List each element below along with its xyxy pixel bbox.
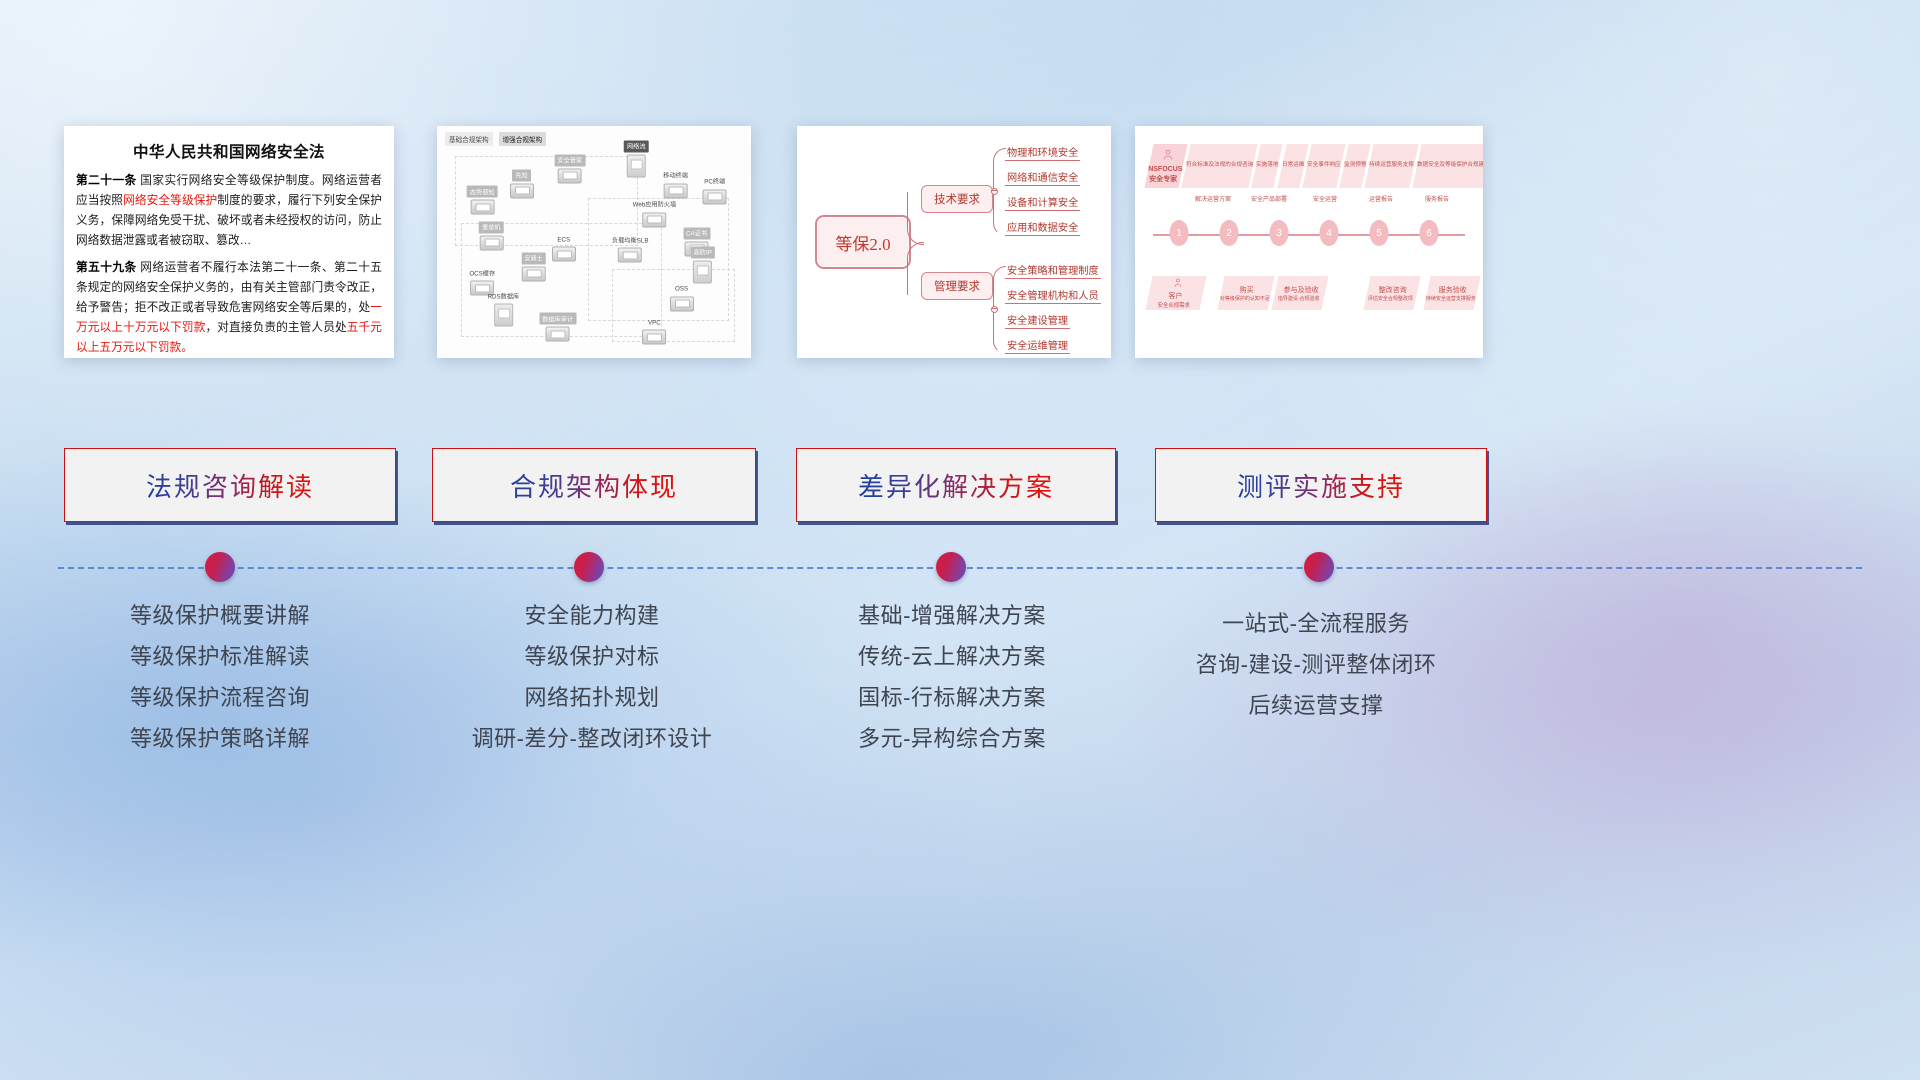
mind-map-leaf: 安全管理机构和人员 bbox=[1005, 287, 1101, 304]
architecture-node: ECS bbox=[552, 235, 576, 262]
architecture-node: 负载均衡SLB bbox=[609, 234, 651, 263]
list-item: 传统-云上解决方案 bbox=[858, 646, 1046, 668]
architecture-canvas: 基础合规架构 增强合规架构 态势感知先知安全管家网络流堡垒机ECS安骑士OCS缓… bbox=[437, 126, 751, 358]
mind-map-branch-link bbox=[991, 308, 997, 309]
stage-marker-dot-4 bbox=[1304, 552, 1334, 582]
stage-title-box-3[interactable]: 差异化解决方案 bbox=[796, 448, 1116, 522]
timeline-step-number: 5 bbox=[1370, 220, 1389, 246]
timeline-customer-block: 客户安全合规需求 bbox=[1145, 276, 1206, 310]
architecture-node-icon bbox=[552, 247, 576, 262]
timeline-footer-item-title: 购买 bbox=[1240, 285, 1254, 295]
timeline-footer-item: 参与及验收指导建设-合规验收 bbox=[1271, 276, 1328, 310]
timeline-banner-chip: 符合标准及法规的合规咨询 bbox=[1182, 144, 1258, 188]
stage-title-label-4: 测评实施支持 bbox=[1237, 467, 1405, 504]
card-architecture-diagram: 基础合规架构 增强合规架构 态势感知先知安全管家网络流堡垒机ECS安骑士OCS缓… bbox=[437, 126, 751, 358]
architecture-node-label: OCS缓存 bbox=[466, 267, 498, 279]
mind-map-branch-technical: 技术要求 bbox=[921, 185, 993, 213]
timeline-footer-item: 购买对等级保护的认知不足 bbox=[1217, 276, 1274, 310]
architecture-node: 安骑士 bbox=[521, 252, 546, 281]
architecture-node-icon bbox=[642, 212, 666, 227]
architecture-node-icon bbox=[627, 154, 646, 177]
timeline-banner-chip-label: 持续运营服务支撑 bbox=[1369, 162, 1414, 170]
timeline-footer-item: 整改咨询评估安全合规整改项 bbox=[1363, 276, 1420, 310]
mind-map-leaf: 网络和通信安全 bbox=[1005, 169, 1080, 186]
architecture-node-label: 安骑士 bbox=[521, 252, 546, 264]
architecture-node-icon bbox=[510, 183, 534, 198]
architecture-node-icon bbox=[618, 248, 642, 263]
mind-map-leaf: 安全建设管理 bbox=[1005, 312, 1070, 329]
law-document-body: 中华人民共和国网络安全法 第二十一条 国家实行网络安全等级保护制度。网络运营者应… bbox=[64, 126, 394, 358]
law-run-0-1: 网络安全等级保护 bbox=[123, 194, 217, 207]
timeline-step-number: 4 bbox=[1320, 220, 1339, 246]
architecture-node-icon bbox=[479, 235, 503, 250]
architecture-node-label: Web应用防火墙 bbox=[630, 198, 680, 210]
timeline-footer-item-sub: 对等级保护的认知不足 bbox=[1220, 295, 1270, 302]
stage-items-4: 一站式-全流程服务 咨询-建设-测评整体闭环 后续运营支撑 bbox=[1196, 613, 1437, 736]
architecture-node-icon bbox=[522, 266, 546, 281]
timeline-footer-item-title: 参与及验收 bbox=[1283, 285, 1318, 295]
stage-marker-dot-3 bbox=[936, 552, 966, 582]
stage-items-3: 基础-增强解决方案 传统-云上解决方案 国标-行标解决方案 多元-异构综合方案 bbox=[858, 605, 1046, 769]
law-paragraph-59: 第五十九条 网络运营者不履行本法第二十一条、第二十五条规定的网络安全保护义务的，… bbox=[76, 258, 382, 359]
list-item: 网络拓扑规划 bbox=[472, 687, 713, 709]
list-item: 基础-增强解决方案 bbox=[858, 605, 1046, 627]
timeline-stage-label: 运营报告 bbox=[1369, 194, 1393, 203]
timeline-axis bbox=[1153, 234, 1465, 236]
architecture-node: RDS数据库 bbox=[485, 290, 523, 327]
list-item: 等级保护概要讲解 bbox=[130, 605, 310, 627]
timeline-step-number: 2 bbox=[1220, 220, 1239, 246]
architecture-node-label: PC终端 bbox=[701, 175, 728, 187]
architecture-node: PC终端 bbox=[701, 175, 728, 204]
architecture-node: 堡垒机 bbox=[479, 221, 504, 250]
customer-icon bbox=[1172, 277, 1184, 291]
timeline-brand-chip: NSFOCUS安全专家 bbox=[1144, 144, 1188, 188]
timeline-stage-label: 安全产品部署 bbox=[1251, 194, 1287, 203]
mind-map-leaf: 安全运维管理 bbox=[1005, 337, 1070, 354]
timeline-banner-chip-label: 数据安全及等级保护合规建设 bbox=[1417, 162, 1483, 170]
architecture-node-label: 网络流 bbox=[624, 140, 649, 152]
timeline-stage-label: 服务报告 bbox=[1425, 194, 1449, 203]
timeline-step-number: 6 bbox=[1420, 220, 1439, 246]
architecture-node: 安全管家 bbox=[554, 154, 585, 183]
stage-title-label-1: 法规咨询解读 bbox=[146, 467, 314, 504]
architecture-node-label: CA证书 bbox=[683, 227, 710, 239]
list-item: 等级保护流程咨询 bbox=[130, 687, 310, 709]
mind-map-root-node: 等保2.0 bbox=[815, 215, 911, 269]
architecture-node: 高防IP bbox=[691, 246, 715, 283]
timeline-footer-item-sub: 指导建设-合规验收 bbox=[1278, 295, 1320, 302]
architecture-node-icon bbox=[670, 296, 694, 311]
timeline-banner-chip: 持续运营服务支撑 bbox=[1364, 144, 1418, 188]
timeline-footer-item-title: 整改咨询 bbox=[1379, 285, 1407, 295]
mind-map-branch-management: 管理要求 bbox=[921, 272, 993, 300]
timeline-customer-sub: 安全合规需求 bbox=[1157, 301, 1189, 309]
card-mind-map: 等保2.0 技术要求 管理要求 物理和环境安全网络和通信安全设备和计算安全应用和… bbox=[797, 126, 1111, 358]
list-item: 调研-差分-整改闭环设计 bbox=[472, 728, 713, 750]
architecture-node-label: VPC bbox=[645, 318, 664, 328]
architecture-node-label: 态势感知 bbox=[467, 186, 498, 198]
timeline-brand-sub: 安全专家 bbox=[1149, 175, 1177, 184]
architecture-node: Web应用防火墙 bbox=[630, 198, 680, 227]
timeline-banner-chip-label: 日常运维 bbox=[1282, 162, 1304, 170]
architecture-node: 网络流 bbox=[624, 140, 649, 177]
timeline-banner-chip-label: 实施落地 bbox=[1256, 162, 1278, 170]
law-title: 中华人民共和国网络安全法 bbox=[76, 140, 382, 162]
architecture-node: OSS bbox=[670, 284, 694, 311]
architecture-node-icon bbox=[546, 327, 570, 342]
mind-map-leaf: 物理和环境安全 bbox=[1005, 144, 1080, 161]
law-article-label-59: 第五十九条 bbox=[76, 261, 137, 274]
architecture-node: 态势感知 bbox=[467, 186, 498, 215]
architecture-node-label: OSS bbox=[672, 284, 691, 294]
architecture-node-label: 堡垒机 bbox=[479, 221, 504, 233]
architecture-node-label: 负载均衡SLB bbox=[609, 234, 651, 246]
architecture-node-icon bbox=[703, 189, 727, 204]
architecture-node: VPC bbox=[642, 318, 666, 345]
law-paragraph-21: 第二十一条 国家实行网络安全等级保护制度。网络运营者应当按照网络安全等级保护制度… bbox=[76, 171, 382, 252]
list-item: 咨询-建设-测评整体闭环 bbox=[1196, 654, 1437, 676]
service-timeline-canvas: NSFOCUS安全专家符合标准及法规的合规咨询实施落地日常运维安全事件响应监测预… bbox=[1135, 126, 1483, 358]
law-article-label-21: 第二十一条 bbox=[76, 174, 137, 187]
list-item: 等级保护对标 bbox=[472, 646, 713, 668]
architecture-node-layer: 态势感知先知安全管家网络流堡垒机ECS安骑士OCS缓存RDS数据库数据库审计We… bbox=[443, 144, 745, 352]
stage-marker-dot-1 bbox=[205, 552, 235, 582]
timeline-banner-chip-label: 符合标准及法规的合规咨询 bbox=[1186, 162, 1253, 170]
stage-items-1: 等级保护概要讲解 等级保护标准解读 等级保护流程咨询 等级保护策略详解 bbox=[130, 605, 310, 769]
mind-map-leaf: 应用和数据安全 bbox=[1005, 219, 1080, 236]
stage-marker-dot-2 bbox=[574, 552, 604, 582]
stage-title-label-3: 差异化解决方案 bbox=[858, 467, 1054, 504]
list-item: 等级保护标准解读 bbox=[130, 646, 310, 668]
architecture-node-label: 先知 bbox=[512, 169, 530, 181]
timeline-footer-item-sub: 持续安全运营支撑服务 bbox=[1426, 295, 1476, 302]
timeline-step-number: 3 bbox=[1270, 220, 1289, 246]
timeline-banner-chip-label: 监测预警 bbox=[1344, 162, 1366, 170]
stage-title-box-4[interactable]: 测评实施支持 bbox=[1155, 448, 1487, 522]
law-run-1-2: ，对直接负责的主管人员处 bbox=[205, 321, 346, 334]
list-item: 后续运营支撑 bbox=[1196, 695, 1437, 717]
list-item: 安全能力构建 bbox=[472, 605, 713, 627]
timeline-footer-item-title: 服务验收 bbox=[1439, 285, 1467, 295]
list-item: 等级保护策略详解 bbox=[130, 728, 310, 750]
timeline-banner: NSFOCUS安全专家符合标准及法规的合规咨询实施落地日常运维安全事件响应监测预… bbox=[1149, 144, 1469, 188]
mind-map-canvas: 等保2.0 技术要求 管理要求 物理和环境安全网络和通信安全设备和计算安全应用和… bbox=[797, 126, 1111, 358]
timeline-brand-name: NSFOCUS bbox=[1148, 165, 1182, 174]
slide-canvas: 中华人民共和国网络安全法 第二十一条 国家实行网络安全等级保护制度。网络运营者应… bbox=[0, 0, 1920, 1080]
timeline-footer-item: 服务验收持续安全运营支撑服务 bbox=[1423, 276, 1480, 310]
architecture-node-icon bbox=[470, 200, 494, 215]
mind-map-leaf: 安全策略和管理制度 bbox=[1005, 262, 1101, 279]
timeline-stage-label: 解决运营方案 bbox=[1195, 194, 1231, 203]
architecture-node-label: 数据库审计 bbox=[539, 313, 576, 325]
architecture-node-icon bbox=[693, 260, 712, 283]
mind-map-root-connector bbox=[907, 242, 924, 295]
stage-title-label-2: 合规架构体现 bbox=[510, 467, 678, 504]
card-service-timeline: NSFOCUS安全专家符合标准及法规的合规咨询实施落地日常运维安全事件响应监测预… bbox=[1135, 126, 1483, 358]
architecture-node: 移动终端 bbox=[660, 169, 691, 198]
architecture-node-label: 安全管家 bbox=[554, 154, 585, 166]
stage-title-box-1[interactable]: 法规咨询解读 bbox=[64, 448, 396, 522]
architecture-node-label: 高防IP bbox=[691, 246, 715, 258]
architecture-node: 先知 bbox=[510, 169, 534, 198]
architecture-node-icon bbox=[642, 330, 666, 345]
architecture-node-icon bbox=[558, 168, 582, 183]
timeline-banner-chip: 安全事件响应 bbox=[1302, 144, 1345, 188]
architecture-node-icon bbox=[494, 304, 513, 327]
architecture-node-label: ECS bbox=[554, 235, 573, 245]
mind-map-branch-link bbox=[991, 190, 997, 191]
mind-map-leaf: 设备和计算安全 bbox=[1005, 194, 1080, 211]
security-expert-icon bbox=[1161, 148, 1175, 165]
stage-title-box-2[interactable]: 合规架构体现 bbox=[432, 448, 756, 522]
timeline-footer-item-sub: 评估安全合规整改项 bbox=[1368, 295, 1413, 302]
card-law-document: 中华人民共和国网络安全法 第二十一条 国家实行网络安全等级保护制度。网络运营者应… bbox=[64, 126, 394, 358]
list-item: 国标-行标解决方案 bbox=[858, 687, 1046, 709]
list-item: 一站式-全流程服务 bbox=[1196, 613, 1437, 635]
architecture-node-icon bbox=[664, 183, 688, 198]
timeline-customer-title: 客户 bbox=[1168, 291, 1182, 301]
mind-map-root-connector bbox=[907, 192, 924, 245]
list-item: 多元-异构综合方案 bbox=[858, 728, 1046, 750]
timeline-banner-chip: 数据安全及等级保护合规建设 bbox=[1412, 144, 1483, 188]
timeline-step-number: 1 bbox=[1170, 220, 1189, 246]
stage-items-2: 安全能力构建 等级保护对标 网络拓扑规划 调研-差分-整改闭环设计 bbox=[472, 605, 713, 769]
architecture-node: 数据库审计 bbox=[539, 313, 576, 342]
architecture-node-label: RDS数据库 bbox=[485, 290, 523, 302]
timeline-banner-chip-label: 安全事件响应 bbox=[1307, 162, 1341, 170]
timeline-stage-label: 安全运营 bbox=[1313, 194, 1337, 203]
architecture-node-label: 移动终端 bbox=[660, 169, 691, 181]
